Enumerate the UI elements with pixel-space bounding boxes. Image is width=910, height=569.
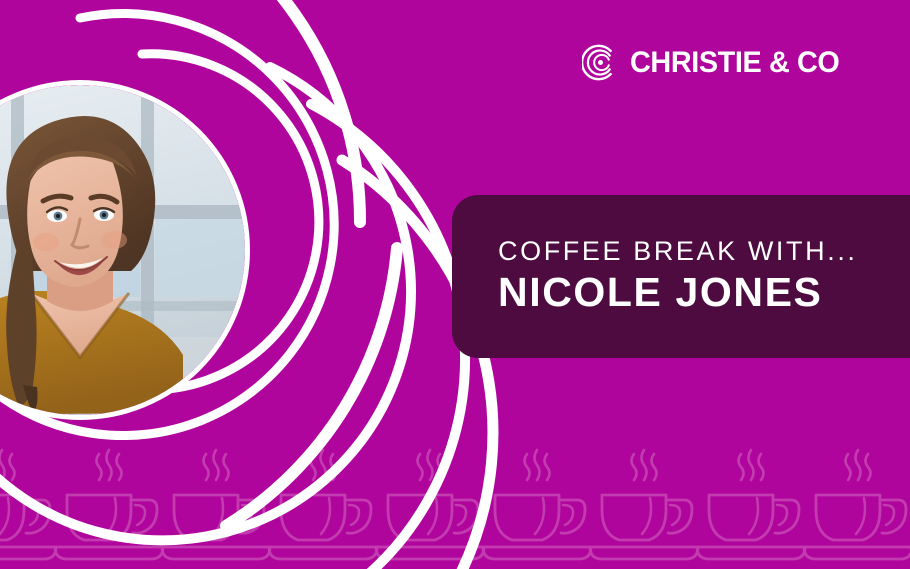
coffee-break-banner: CHRISTIE & CO COFFEE BREAK WITH... NICOL… — [0, 0, 910, 569]
brand-name: CHRISTIE & CO — [630, 48, 839, 78]
avatar — [0, 85, 245, 415]
page-title: NICOLE JONES — [498, 270, 910, 316]
christie-spiral-c-icon — [582, 44, 619, 81]
eyebrow-text: COFFEE BREAK WITH... — [498, 237, 910, 265]
coffee-cup-pattern-icon — [0, 440, 910, 569]
title-panel: COFFEE BREAK WITH... NICOLE JONES — [452, 195, 910, 358]
brand-logo: CHRISTIE & CO — [582, 44, 848, 81]
